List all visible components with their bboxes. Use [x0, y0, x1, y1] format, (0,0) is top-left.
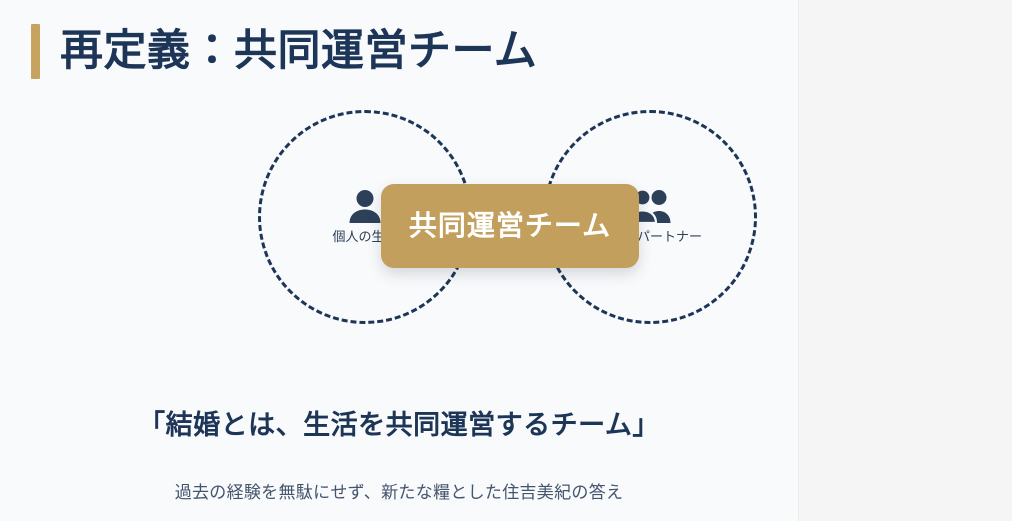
venn-diagram: 個人の生活 人生のパートナー 共同運営チーム — [0, 104, 798, 334]
gold-accent-bar — [31, 24, 40, 79]
canvas-right-edge — [798, 0, 799, 521]
center-badge-label: 共同運営チーム — [409, 212, 611, 240]
page-title: 再定義：共同運営チーム — [60, 30, 537, 73]
slide-root: 再定義：共同運営チーム 個人の生活 — [0, 0, 1012, 521]
center-badge: 共同運営チーム — [381, 184, 639, 268]
quote-text: 「結婚とは、生活を共同運営するチーム」 — [0, 409, 798, 441]
caption-text: 過去の経験を無駄にせず、新たな糧とした住吉美紀の答え — [0, 482, 798, 504]
slide-header: 再定義：共同運営チーム — [31, 20, 537, 82]
